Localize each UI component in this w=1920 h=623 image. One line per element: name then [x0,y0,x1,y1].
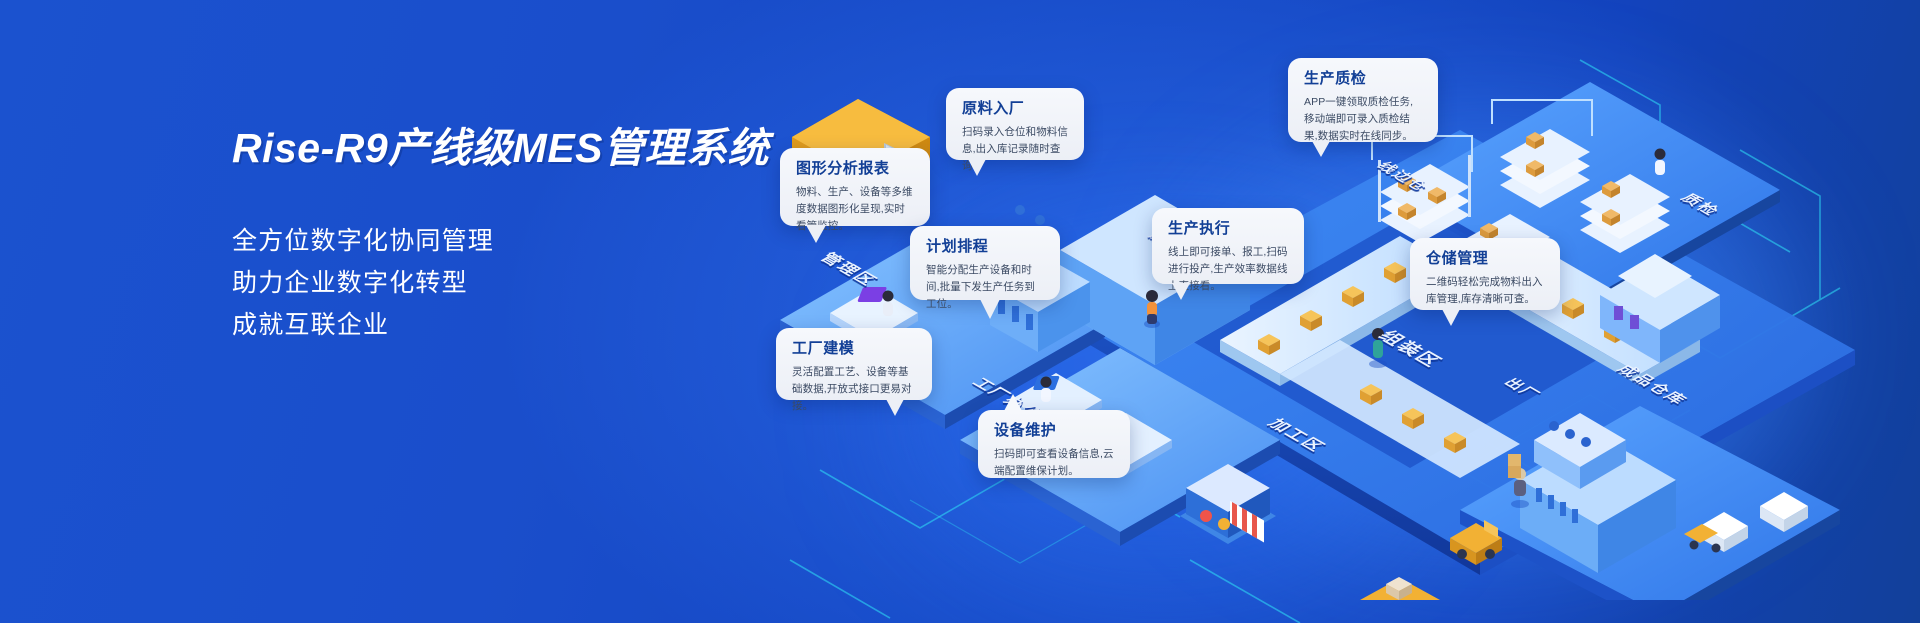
callout-tail [886,399,904,416]
callout-production-quality-inspection[interactable]: 生产质检 APP一键领取质检任务,移动端即可录入质检结果,数据实时在线同步。 [1288,58,1438,142]
callout-equipment-maintenance[interactable]: 设备维护 扫码即可查看设备信息,云端配置维保计划。 [978,410,1130,478]
callout-body: 扫码即可查看设备信息,云端配置维保计划。 [994,446,1115,480]
callout-factory-modeling[interactable]: 工厂建模 灵活配置工艺、设备等基础数据,开放式接口更易对接。 [776,328,932,400]
mes-banner: Rise-R9产线级MES管理系统 全方位数字化协同管理 助力企业数字化转型 成… [0,0,1920,623]
callout-title: 生产执行 [1168,221,1289,236]
callout-raw-material-inbound[interactable]: 原料入厂 扫码录入仓位和物料信息,出入库记录随时查询! [946,88,1084,160]
callout-tail [1004,394,1022,411]
callout-body: 二维码轻松完成物料出入库管理,库存清晰可查。 [1426,274,1545,308]
callout-title: 原料入厂 [962,101,1069,116]
callout-title: 仓储管理 [1426,251,1545,266]
callout-tail [980,299,1000,319]
callout-title: 设备维护 [994,423,1115,438]
callout-title: 工厂建模 [792,341,917,356]
callout-graphic-analysis-report[interactable]: 图形分析报表 物料、生产、设备等多维度数据图形化呈现,实时看管监控。 [780,148,930,226]
callout-body: APP一键领取质检任务,移动端即可录入质检结果,数据实时在线同步。 [1304,94,1423,145]
callout-tail [806,225,826,243]
callout-title: 计划排程 [926,239,1045,254]
callout-production-execution[interactable]: 生产执行 线上即可接单、报工,扫码进行投产,生产效率数据线上直接看。 [1152,208,1304,284]
callout-tail [968,159,986,176]
callout-plan-scheduling[interactable]: 计划排程 智能分配生产设备和时间,批量下发生产任务到工位。 [910,226,1060,300]
callout-title: 生产质检 [1304,71,1423,86]
callout-tail [1172,283,1190,300]
callout-title: 图形分析报表 [796,161,915,176]
callout-tail [1442,309,1460,326]
callout-tail [1312,141,1330,157]
isometric-factory-illustration: 管理区 工厂办公室 加工区 组装区 线边仓 原料仓库 质检 成品仓库 出厂 图形… [760,40,1920,600]
callout-warehouse-management[interactable]: 仓储管理 二维码轻松完成物料出入库管理,库存清晰可查。 [1410,238,1560,310]
